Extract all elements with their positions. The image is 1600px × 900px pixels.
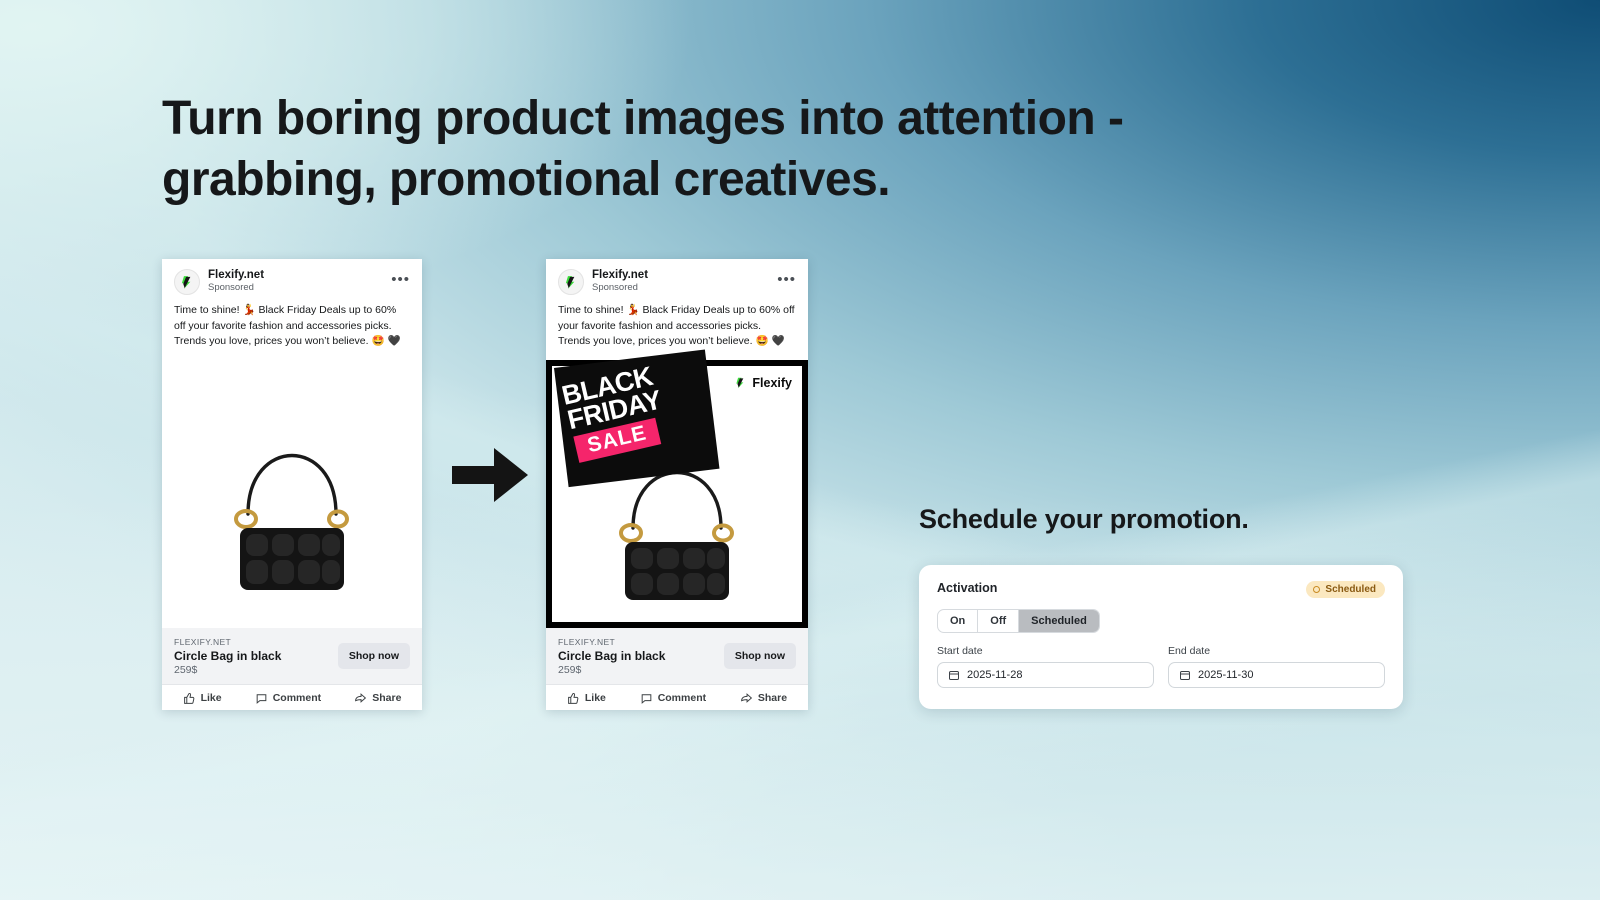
like-button[interactable]: Like [183,692,222,705]
ad-copy-text: Time to shine! 💃 Black Friday Deals up t… [546,299,808,360]
avatar [174,269,200,295]
ad-action-bar-after: Like Comment Share [546,684,808,710]
ad-product-info: FLEXIFY.NET Circle Bag in black 259$ [558,637,724,676]
start-date-label: Start date [937,645,1154,657]
transform-arrow-icon [452,444,528,506]
start-date-input[interactable]: 2025-11-28 [937,662,1154,688]
ad-media-canvas [162,360,422,628]
ad-footer-after: FLEXIFY.NET Circle Bag in black 259$ Sho… [546,628,808,684]
headline-line-1: Turn boring product images into attentio… [162,88,1392,149]
activation-scheduler-panel: Activation Scheduled On Off Scheduled St… [919,565,1403,709]
segment-scheduled[interactable]: Scheduled [1019,610,1099,632]
share-arrow-icon [354,692,367,705]
activation-segmented-control: On Off Scheduled [937,609,1100,633]
comment-button[interactable]: Comment [255,692,321,705]
thumbs-up-icon [183,692,196,705]
ad-product-price: 259$ [558,664,724,676]
segment-on[interactable]: On [938,610,978,632]
scheduler-section-heading: Schedule your promotion. [919,504,1249,535]
share-label: Share [758,692,787,704]
more-options-icon[interactable]: ••• [777,275,796,290]
overlay-brand-label: Flexify [752,376,792,390]
ad-sponsored-label: Sponsored [208,282,391,294]
end-date-value: 2025-11-30 [1198,669,1253,681]
ad-domain: FLEXIFY.NET [174,637,338,647]
comment-label: Comment [658,692,706,704]
ad-sponsored-label: Sponsored [592,282,777,294]
ad-footer-before: FLEXIFY.NET Circle Bag in black 259$ Sho… [162,628,422,684]
ad-domain: FLEXIFY.NET [558,637,724,647]
status-badge-label: Scheduled [1325,584,1376,595]
ad-identity-after: Flexify.net Sponsored [592,269,777,295]
shop-now-button[interactable]: Shop now [338,643,410,669]
page-headline: Turn boring product images into attentio… [162,88,1392,211]
status-circle-icon [1313,586,1320,593]
like-button[interactable]: Like [567,692,606,705]
ad-brand-name: Flexify.net [208,269,391,282]
ad-media-after[interactable]: Flexify BLACK FRIDAY SALE [546,360,808,628]
share-button[interactable]: Share [354,692,401,705]
comment-bubble-icon [640,692,653,705]
ad-card-before: Flexify.net Sponsored ••• Time to shine!… [162,259,422,710]
ad-header-before: Flexify.net Sponsored ••• [162,259,422,299]
ad-copy-text: Time to shine! 💃 Black Friday Deals up t… [162,299,422,360]
thumbs-up-icon [567,692,580,705]
overlay-brand-badge: Flexify [734,376,792,390]
start-date-group: Start date 2025-11-28 [937,645,1154,688]
ad-product-price: 259$ [174,664,338,676]
comment-label: Comment [273,692,321,704]
segment-off[interactable]: Off [978,610,1019,632]
share-arrow-icon [740,692,753,705]
shop-now-button[interactable]: Shop now [724,643,796,669]
scheduler-header: Activation Scheduled [937,581,1385,598]
flexify-logo-icon [179,274,196,291]
headline-line-2: grabbing, promotional creatives. [162,149,1392,210]
ad-product-title: Circle Bag in black [174,649,338,663]
calendar-icon [1179,669,1191,681]
like-label: Like [585,692,606,704]
date-range-row: Start date 2025-11-28 End date 2025-11-3… [937,645,1385,688]
comment-bubble-icon [255,692,268,705]
ad-brand-name: Flexify.net [592,269,777,282]
share-label: Share [372,692,401,704]
flexify-logo-icon [734,376,748,390]
ad-product-title: Circle Bag in black [558,649,724,663]
more-options-icon[interactable]: ••• [391,275,410,290]
flexify-logo-icon [563,274,580,291]
product-image-handbag [204,388,380,602]
calendar-icon [948,669,960,681]
end-date-group: End date 2025-11-30 [1168,645,1385,688]
end-date-label: End date [1168,645,1385,657]
like-label: Like [201,692,222,704]
ad-media-canvas: Flexify BLACK FRIDAY SALE [552,366,802,622]
ad-action-bar-before: Like Comment Share [162,684,422,710]
share-button[interactable]: Share [740,692,787,705]
ad-media-before[interactable] [162,360,422,628]
ad-product-info: FLEXIFY.NET Circle Bag in black 259$ [174,637,338,676]
ad-card-after: Flexify.net Sponsored ••• Time to shine!… [546,259,808,710]
activation-title: Activation [937,581,997,595]
status-badge: Scheduled [1306,581,1385,598]
start-date-value: 2025-11-28 [967,669,1022,681]
ad-header-after: Flexify.net Sponsored ••• [546,259,808,299]
avatar [558,269,584,295]
comment-button[interactable]: Comment [640,692,706,705]
black-friday-sticker: BLACK FRIDAY SALE [554,349,719,487]
ad-identity-before: Flexify.net Sponsored [208,269,391,295]
end-date-input[interactable]: 2025-11-30 [1168,662,1385,688]
